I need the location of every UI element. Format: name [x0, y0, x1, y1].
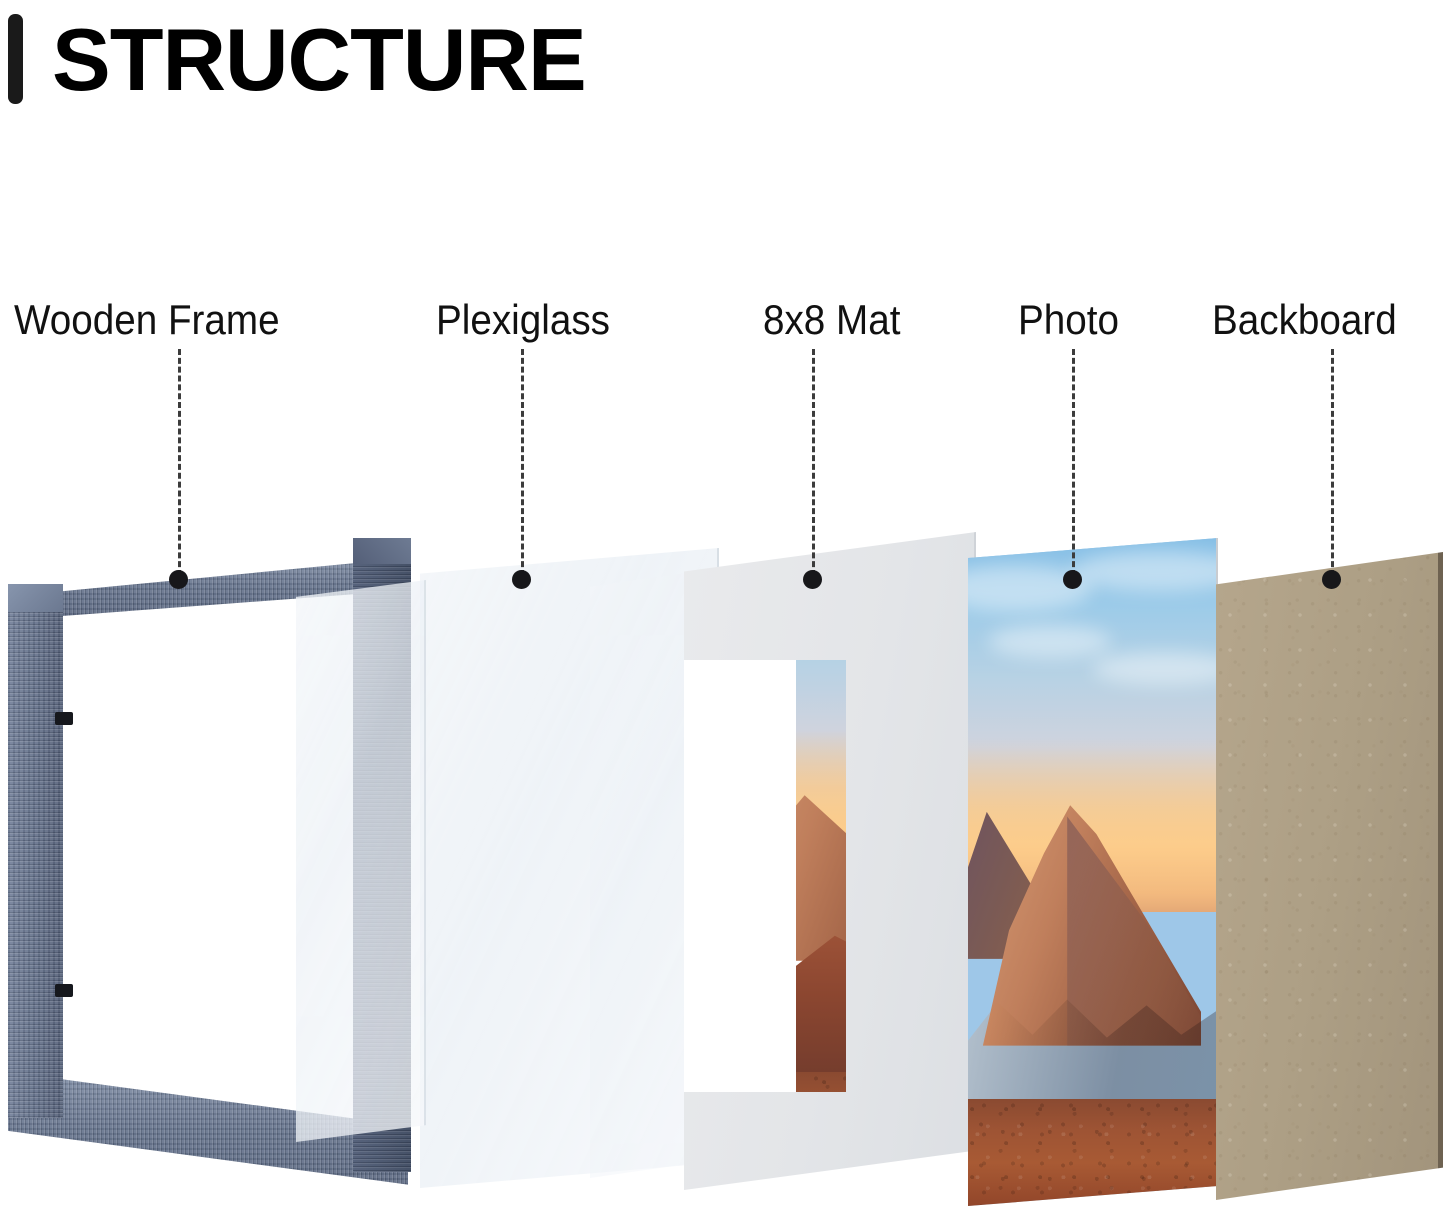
leader-line-mat: [812, 349, 815, 576]
label-backboard: Backboard: [1212, 296, 1397, 344]
layer-photo[interactable]: [968, 538, 1218, 1206]
photo-cloud-3: [988, 625, 1112, 658]
frame-corner-miter-topleft: [8, 584, 63, 612]
photo-gravel-texture: [968, 1099, 1216, 1206]
leader-dot-mat: [803, 570, 822, 589]
leader-line-backboard: [1331, 349, 1334, 576]
leader-dot-plexiglass: [512, 570, 531, 589]
leader-dot-backboard: [1322, 570, 1341, 589]
photo-cloud-4: [1092, 652, 1218, 685]
leader-dot-photo: [1063, 570, 1082, 589]
frame-clip-lower[interactable]: [55, 984, 73, 997]
frame-left-rail: [8, 584, 63, 1118]
label-plexiglass: Plexiglass: [436, 296, 610, 344]
label-mat: 8x8 Mat: [763, 296, 900, 344]
label-photo: Photo: [1018, 296, 1119, 344]
mat-window-opening: [684, 660, 846, 1092]
layer-backboard[interactable]: [1216, 552, 1443, 1200]
leader-line-photo: [1072, 349, 1075, 576]
plexiglass-behind-frame: [296, 580, 426, 1142]
exploded-frame-diagram: Wooden Frame Plexiglass 8x8 Mat Photo Ba…: [0, 0, 1445, 1220]
label-wooden-frame: Wooden Frame: [14, 296, 280, 344]
frame-corner-miter-topright: [353, 538, 411, 564]
leader-dot-wooden-frame: [169, 570, 188, 589]
leader-line-wooden-frame: [178, 349, 181, 576]
leader-line-plexiglass: [521, 349, 524, 576]
mat-window-photo-reveal: [796, 660, 846, 1092]
layer-mat[interactable]: [684, 532, 976, 1190]
frame-clip-upper[interactable]: [55, 712, 73, 725]
